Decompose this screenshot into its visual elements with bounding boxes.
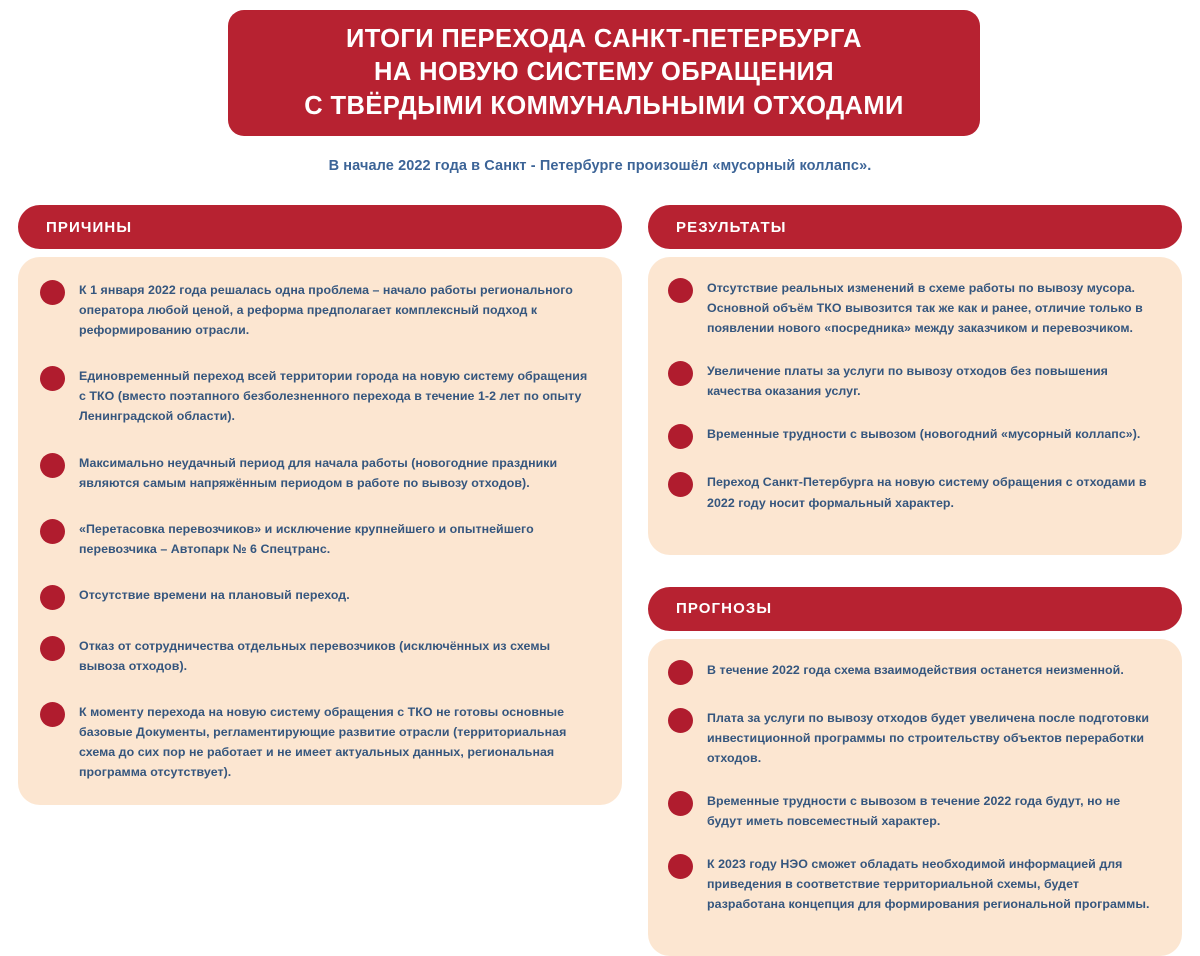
list-item-text: Увеличение платы за услуги по вывозу отх… [707, 360, 1158, 401]
title-line-1: ИТОГИ ПЕРЕХОДА САНКТ-ПЕТЕРБУРГА [346, 23, 862, 57]
title-line-2: НА НОВУЮ СИСТЕМУ ОБРАЩЕНИЯ [374, 56, 834, 90]
list-item: В течение 2022 года схема взаимодействия… [668, 659, 1158, 685]
section-header-forecasts: ПРОГНОЗЫ [648, 587, 1182, 631]
section-title-causes: ПРИЧИНЫ [46, 219, 132, 236]
bullet-dot-icon [668, 854, 693, 879]
list-item: Плата за услуги по вывозу отходов будет … [668, 707, 1158, 768]
subtitle: В начале 2022 года в Санкт - Петербурге … [0, 158, 1200, 174]
list-item-text: К моменту перехода на новую систему обра… [79, 701, 596, 782]
bullet-dot-icon [668, 361, 693, 386]
bullet-dot-icon [40, 585, 65, 610]
panel-results: Отсутствие реальных изменений в схеме ра… [648, 257, 1182, 555]
bullet-dot-icon [668, 472, 693, 497]
bullet-dot-icon [668, 708, 693, 733]
section-title-forecasts: ПРОГНОЗЫ [676, 600, 772, 617]
list-item: Единовременный переход всей территории г… [40, 365, 596, 426]
panel-causes: К 1 января 2022 года решалась одна пробл… [18, 257, 622, 805]
list-item-text: Единовременный переход всей территории г… [79, 365, 596, 426]
list-item: К 1 января 2022 года решалась одна пробл… [40, 279, 596, 340]
left-column: ПРИЧИНЫ К 1 января 2022 года решалась од… [18, 205, 622, 805]
list-item-text: Переход Санкт-Петербурга на новую систем… [707, 471, 1158, 512]
list-item-text: «Перетасовка перевозчиков» и исключение … [79, 518, 596, 559]
list-item: Отсутствие реальных изменений в схеме ра… [668, 277, 1158, 338]
bullet-dot-icon [40, 519, 65, 544]
section-title-results: РЕЗУЛЬТАТЫ [676, 219, 787, 236]
section-causes: ПРИЧИНЫ К 1 января 2022 года решалась од… [18, 205, 622, 805]
list-item: Максимально неудачный период для начала … [40, 452, 596, 493]
list-item-text: Максимально неудачный период для начала … [79, 452, 596, 493]
panel-forecasts: В течение 2022 года схема взаимодействия… [648, 639, 1182, 956]
list-item: «Перетасовка перевозчиков» и исключение … [40, 518, 596, 559]
list-item: Отсутствие времени на плановый переход. [40, 584, 596, 610]
list-item: К 2023 году НЭО сможет обладать необходи… [668, 853, 1158, 914]
list-item: Переход Санкт-Петербурга на новую систем… [668, 471, 1158, 512]
title-line-3: С ТВЁРДЫМИ КОММУНАЛЬНЫМИ ОТХОДАМИ [304, 90, 904, 124]
bullet-dot-icon [668, 791, 693, 816]
list-item-text: Временные трудности с вывозом в течение … [707, 790, 1158, 831]
list-item: Увеличение платы за услуги по вывозу отх… [668, 360, 1158, 401]
list-item-text: К 2023 году НЭО сможет обладать необходи… [707, 853, 1158, 914]
list-item: Временные трудности с вывозом в течение … [668, 790, 1158, 831]
bullet-dot-icon [40, 280, 65, 305]
list-item: Временные трудности с вывозом (новогодни… [668, 423, 1158, 449]
bullet-dot-icon [40, 702, 65, 727]
list-item-text: К 1 января 2022 года решалась одна пробл… [79, 279, 596, 340]
list-item-text: Отсутствие времени на плановый переход. [79, 584, 350, 605]
section-forecasts: ПРОГНОЗЫ В течение 2022 года схема взаим… [648, 587, 1182, 956]
list-item-text: Временные трудности с вывозом (новогодни… [707, 423, 1140, 444]
bullet-dot-icon [40, 453, 65, 478]
bullet-dot-icon [40, 636, 65, 661]
title-banner: ИТОГИ ПЕРЕХОДА САНКТ-ПЕТЕРБУРГА НА НОВУЮ… [228, 10, 980, 136]
section-header-causes: ПРИЧИНЫ [18, 205, 622, 249]
section-results: РЕЗУЛЬТАТЫ Отсутствие реальных изменений… [648, 205, 1182, 555]
list-item-text: Отсутствие реальных изменений в схеме ра… [707, 277, 1158, 338]
right-column: РЕЗУЛЬТАТЫ Отсутствие реальных изменений… [648, 205, 1182, 956]
list-item: Отказ от сотрудничества отдельных перево… [40, 635, 596, 676]
list-item-text: В течение 2022 года схема взаимодействия… [707, 659, 1124, 680]
list-item: К моменту перехода на новую систему обра… [40, 701, 596, 782]
bullet-dot-icon [668, 660, 693, 685]
bullet-dot-icon [668, 424, 693, 449]
list-item-text: Отказ от сотрудничества отдельных перево… [79, 635, 596, 676]
bullet-dot-icon [40, 366, 65, 391]
list-item-text: Плата за услуги по вывозу отходов будет … [707, 707, 1158, 768]
bullet-dot-icon [668, 278, 693, 303]
section-header-results: РЕЗУЛЬТАТЫ [648, 205, 1182, 249]
